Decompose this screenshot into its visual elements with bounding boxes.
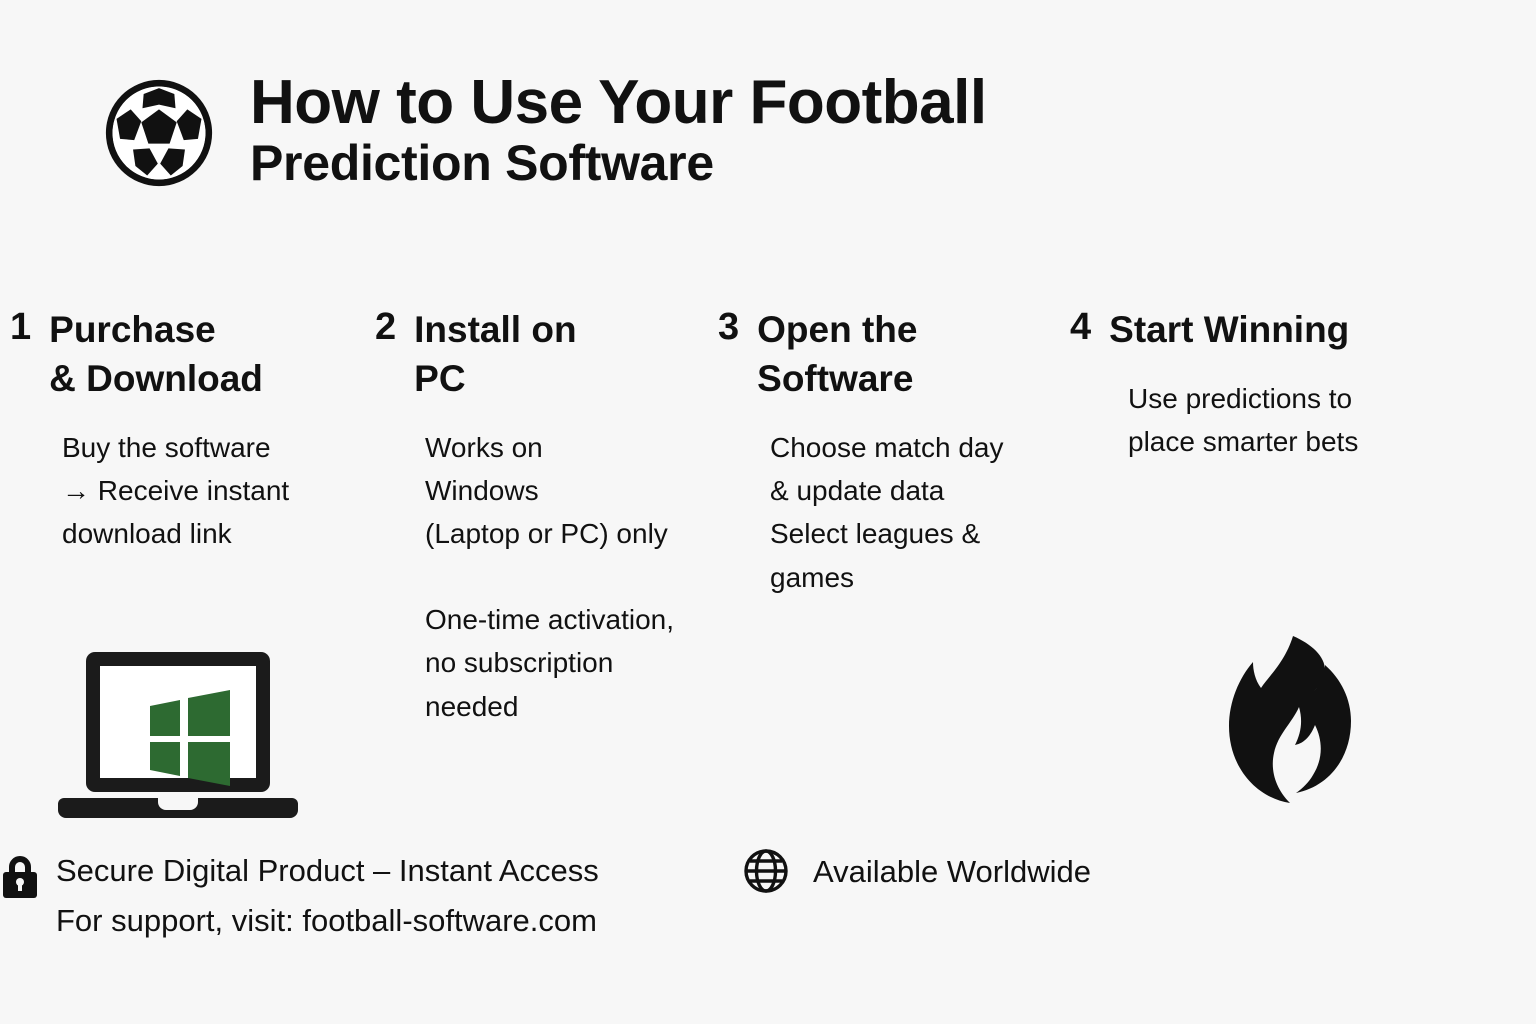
lock-icon (0, 846, 46, 905)
step-1-title: Purchase & Download (49, 306, 263, 404)
step-3-title-line-2: Software (757, 355, 917, 404)
footer: Secure Digital Product – Instant Access … (0, 846, 1536, 946)
step-2-number: 2 (375, 306, 396, 349)
title-line-1: How to Use Your Football (250, 70, 987, 135)
step-3-body: Choose match day & update data Select le… (770, 426, 1068, 600)
step-4-start-winning: 4 Start Winning Use predictions to place… (1070, 306, 1470, 464)
step-1-purchase-download: 1 Purchase & Download Buy the software →… (10, 306, 370, 556)
infographic-canvas: How to Use Your Football Prediction Soft… (0, 0, 1536, 1024)
step-2-title-line-1: Install on (414, 306, 576, 355)
step-2-title-line-2: PC (414, 355, 576, 404)
laptop-windows-icon (58, 640, 298, 835)
flame-icon (1225, 632, 1355, 812)
footer-worldwide-label: Available Worldwide (813, 847, 1091, 897)
step-2-heading: 2 Install on PC (375, 306, 720, 404)
step-3-open-the-software: 3 Open the Software Choose match day & u… (718, 306, 1068, 599)
step-2-paragraph-2: One-time activation, no subscription nee… (425, 598, 720, 728)
step-2-body: Works on Windows (Laptop or PC) only One… (425, 426, 720, 728)
step-1-paragraph-1: Buy the software → Receive instant downl… (62, 426, 370, 556)
footer-worldwide-row: Available Worldwide (743, 846, 1091, 899)
header: How to Use Your Football Prediction Soft… (0, 62, 1300, 197)
step-1-number: 1 (10, 306, 31, 349)
step-4-title-line-1: Start Winning (1109, 306, 1349, 355)
step-3-number: 3 (718, 306, 739, 349)
step-2-title: Install on PC (414, 306, 576, 404)
step-1-heading: 1 Purchase & Download (10, 306, 370, 404)
step-4-number: 4 (1070, 306, 1091, 349)
step-1-body: Buy the software → Receive instant downl… (62, 426, 370, 556)
footer-support-label[interactable]: For support, visit: football-software.co… (56, 896, 599, 946)
step-3-title-line-1: Open the (757, 306, 917, 355)
steps-row: 1 Purchase & Download Buy the software →… (0, 306, 1536, 826)
step-1-title-line-2: & Download (49, 355, 263, 404)
step-2-paragraph-1: Works on Windows (Laptop or PC) only (425, 426, 720, 556)
soccer-ball-icon (100, 62, 240, 197)
step-3-title: Open the Software (757, 306, 917, 404)
title-line-2: Prediction Software (250, 135, 987, 191)
globe-icon (743, 846, 789, 899)
footer-text-block: Secure Digital Product – Instant Access … (56, 846, 599, 946)
step-1-title-line-1: Purchase (49, 306, 263, 355)
step-4-title: Start Winning (1109, 306, 1349, 355)
footer-secure-label: Secure Digital Product – Instant Access (56, 846, 599, 896)
step-4-paragraph-1: Use predictions to place smarter bets (1128, 377, 1470, 464)
step-4-body: Use predictions to place smarter bets (1128, 377, 1470, 464)
step-2-install-on-pc: 2 Install on PC Works on Windows (Laptop… (375, 306, 720, 728)
step-3-paragraph-1: Choose match day & update data Select le… (770, 426, 1068, 600)
step-4-heading: 4 Start Winning (1070, 306, 1470, 355)
step-3-heading: 3 Open the Software (718, 306, 1068, 404)
page-title: How to Use Your Football Prediction Soft… (250, 62, 987, 191)
